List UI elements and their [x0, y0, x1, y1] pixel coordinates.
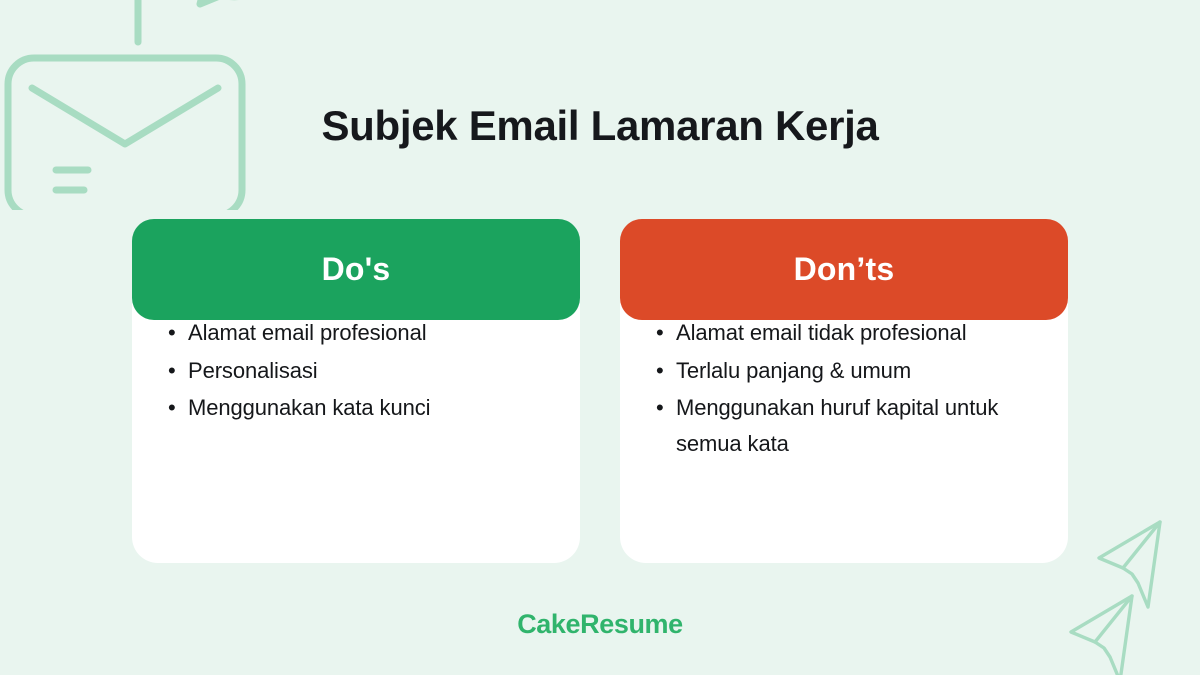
- brand-logo: CakeResume: [0, 609, 1200, 640]
- list-item: • Personalisasi: [188, 353, 554, 389]
- bullet-icon: •: [656, 353, 664, 389]
- page-title: Subjek Email Lamaran Kerja: [0, 101, 1200, 151]
- list-item-label: Menggunakan huruf kapital untuk semua ka…: [676, 395, 998, 456]
- list-item: • Menggunakan kata kunci: [188, 390, 554, 426]
- paper-plane-icon: [1099, 522, 1160, 607]
- card-header-dos: Do's: [132, 219, 580, 320]
- list-item-label: Personalisasi: [188, 358, 318, 383]
- list-item-label: Menggunakan kata kunci: [188, 395, 430, 420]
- card-donts: Don’ts • Alamat email tidak profesional …: [620, 219, 1068, 563]
- decoration-bottom-right: [1056, 495, 1200, 675]
- list-item: • Alamat email tidak profesional: [676, 315, 1042, 351]
- list-item: • Menggunakan huruf kapital untuk semua …: [676, 390, 1042, 461]
- card-dos: Do's • Alamat email profesional • Person…: [132, 219, 580, 563]
- list-item-label: Alamat email tidak profesional: [676, 320, 966, 345]
- card-header-label-donts: Don’ts: [794, 251, 895, 288]
- comparison-columns: Do's • Alamat email profesional • Person…: [132, 219, 1068, 563]
- card-header-donts: Don’ts: [620, 219, 1068, 320]
- card-header-label-dos: Do's: [322, 251, 391, 288]
- bullet-icon: •: [656, 390, 664, 426]
- list-dos: • Alamat email profesional • Personalisa…: [132, 315, 580, 426]
- bullet-icon: •: [168, 390, 176, 426]
- speech-bubble-icon: [197, 0, 271, 4]
- list-item: • Alamat email profesional: [188, 315, 554, 351]
- list-item-label: Terlalu panjang & umum: [676, 358, 911, 383]
- bullet-icon: •: [656, 315, 664, 351]
- slide-canvas: Subjek Email Lamaran Kerja Do's • Alamat…: [0, 0, 1200, 675]
- list-item-label: Alamat email profesional: [188, 320, 427, 345]
- list-donts: • Alamat email tidak profesional • Terla…: [620, 315, 1068, 462]
- column-donts: Don’ts • Alamat email tidak profesional …: [620, 219, 1068, 563]
- bullet-icon: •: [168, 353, 176, 389]
- bullet-icon: •: [168, 315, 176, 351]
- column-dos: Do's • Alamat email profesional • Person…: [132, 219, 580, 563]
- list-item: • Terlalu panjang & umum: [676, 353, 1042, 389]
